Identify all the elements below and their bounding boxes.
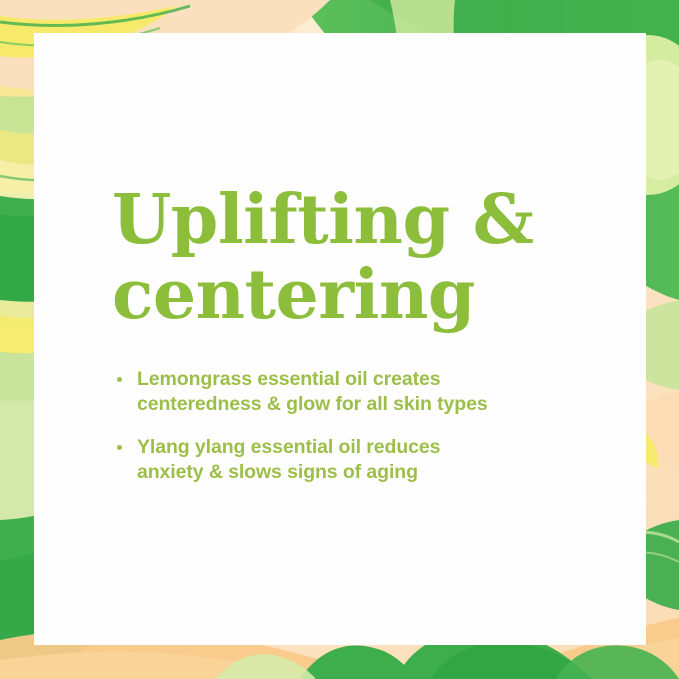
list-item: Lemongrass essential oil creates centere… bbox=[112, 367, 606, 417]
bullet-dot-icon bbox=[117, 445, 122, 450]
bullet-dot-icon bbox=[117, 377, 122, 382]
list-item-line-1: Lemongrass essential oil creates bbox=[137, 367, 606, 392]
list-item-line-2: anxiety & slows signs of aging bbox=[137, 460, 606, 485]
headline-line-1: Uplifting & bbox=[112, 183, 606, 258]
list-item: Ylang ylang essential oil reduces anxiet… bbox=[112, 435, 606, 485]
list-item-line-1: Ylang ylang essential oil reduces bbox=[137, 435, 606, 460]
white-content-card: Uplifting & centering Lemongrass essenti… bbox=[34, 33, 646, 645]
list-item-line-2: centeredness & glow for all skin types bbox=[137, 392, 606, 417]
product-benefit-graphic: Uplifting & centering Lemongrass essenti… bbox=[0, 0, 679, 679]
list-item-text: Lemongrass essential oil creates centere… bbox=[137, 367, 606, 417]
benefits-list: Lemongrass essential oil creates centere… bbox=[112, 367, 606, 485]
list-item-text: Ylang ylang essential oil reduces anxiet… bbox=[137, 435, 606, 485]
card-content: Uplifting & centering Lemongrass essenti… bbox=[112, 183, 606, 485]
page-title: Uplifting & centering bbox=[112, 183, 606, 333]
headline-line-2: centering bbox=[112, 258, 606, 333]
